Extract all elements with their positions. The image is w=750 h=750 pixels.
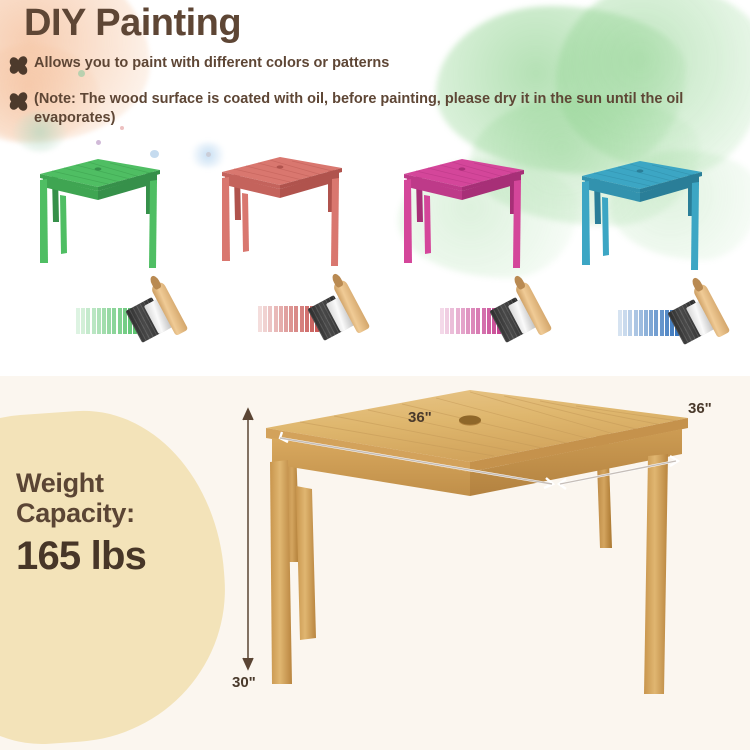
- leg-front-center: [424, 195, 431, 254]
- leg-front-left: [404, 179, 412, 263]
- leg-front-center: [602, 197, 609, 256]
- feature-bullet-1: Allows you to paint with different color…: [10, 54, 710, 74]
- leg-front-right: [331, 178, 339, 266]
- painted-table-magenta-pink: [382, 150, 532, 265]
- page-title: DIY Painting: [24, 4, 241, 44]
- table-leg-front-right: [644, 454, 668, 694]
- paintbrush-teal-blue: [618, 284, 738, 354]
- umbrella-hole: [95, 167, 102, 170]
- leg-front-left: [222, 177, 230, 261]
- leg-front-center: [242, 193, 249, 252]
- dimension-line-height: [243, 409, 253, 669]
- dimensions-section: Weight Capacity: 165 lbs: [0, 376, 750, 750]
- paintbrush-magenta-pink: [440, 282, 560, 352]
- clover-bullet-icon: [10, 92, 28, 110]
- paintbrush-green: [76, 282, 196, 352]
- leg-front-right: [691, 182, 699, 270]
- leg-front-left: [582, 181, 590, 265]
- painted-table-green: [18, 150, 168, 265]
- infographic-page: DIY Painting Allows you to paint with di…: [0, 0, 750, 750]
- paint-speck: [96, 140, 101, 145]
- paintbrush-coral-red: [258, 280, 378, 350]
- painted-table-coral-red: [200, 148, 350, 263]
- diy-painting-section: DIY Painting Allows you to paint with di…: [0, 0, 750, 375]
- leg-front-center: [60, 195, 67, 254]
- umbrella-hole: [459, 167, 466, 170]
- leg-front-left: [40, 179, 48, 263]
- leg-front-right: [149, 180, 157, 268]
- table-leg-front-center: [296, 486, 316, 640]
- feature-bullet-1-label: Allows you to paint with different color…: [34, 54, 389, 73]
- painted-table-teal-blue: [560, 152, 710, 267]
- feature-bullet-2: (Note: The wood surface is coated with o…: [10, 90, 726, 128]
- umbrella-hole: [277, 165, 284, 168]
- dimension-label-side: 36": [688, 400, 712, 417]
- umbrella-hole: [637, 169, 644, 172]
- dimension-label-front: 36": [408, 409, 432, 426]
- clover-bullet-icon: [10, 56, 28, 74]
- leg-front-right: [513, 180, 521, 268]
- dimension-label-height: 30": [232, 674, 256, 691]
- feature-bullet-2-label: (Note: The wood surface is coated with o…: [34, 90, 726, 128]
- wooden-dining-table-illustration: [0, 376, 750, 750]
